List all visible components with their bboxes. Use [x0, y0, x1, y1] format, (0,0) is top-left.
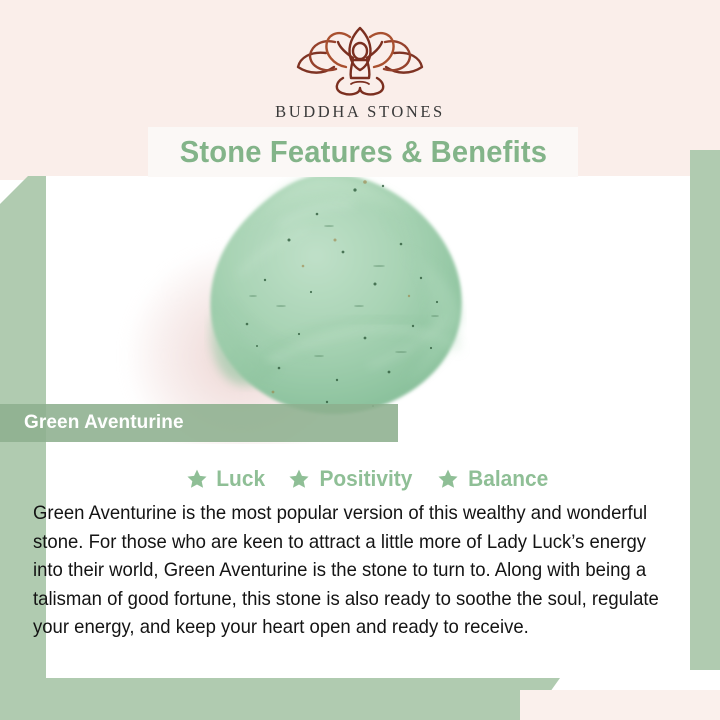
stone-name-label: Green Aventurine	[0, 404, 398, 442]
frame-accent-right	[690, 150, 720, 670]
benefit-item-luck: Luck	[186, 466, 266, 492]
benefit-label: Positivity	[320, 466, 413, 492]
corner-accent-bottom-right	[520, 690, 720, 720]
title-banner: Stone Features & Benefits	[148, 127, 578, 177]
description-block: Green Aventurine is the most popular ver…	[33, 500, 693, 643]
stone-features-poster: BUDDHA STONES Stone Features & Benefits	[0, 0, 720, 720]
brand-logo: BUDDHA STONES	[0, 20, 720, 122]
stone-name-text: Green Aventurine	[24, 412, 184, 434]
benefit-label: Balance	[468, 466, 548, 492]
benefit-item-balance: Balance	[437, 466, 550, 492]
brand-name: BUDDHA STONES	[275, 102, 445, 122]
benefits-row: Luck Positivity Balance	[46, 466, 690, 492]
page-title: Stone Features & Benefits	[179, 134, 546, 170]
star-icon	[186, 468, 208, 490]
description-text: Green Aventurine is the most popular ver…	[33, 500, 670, 643]
star-icon	[437, 468, 459, 490]
lotus-meditation-icon	[280, 20, 440, 98]
frame-accent-bottom	[0, 678, 560, 720]
benefit-item-positivity: Positivity	[288, 466, 415, 492]
benefit-label: Luck	[216, 466, 265, 492]
star-icon	[288, 468, 310, 490]
